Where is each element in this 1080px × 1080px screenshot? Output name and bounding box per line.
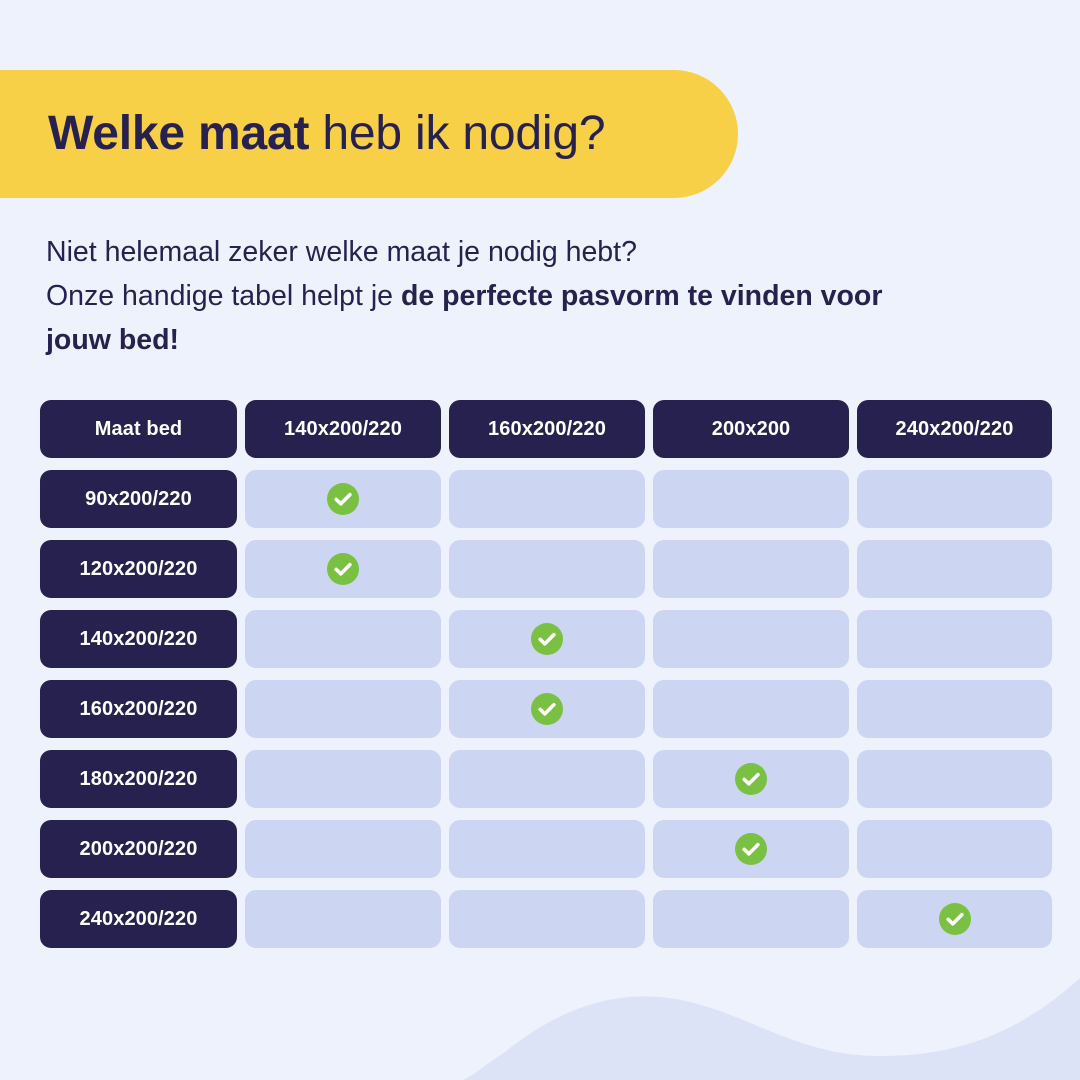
table-cell <box>245 610 441 668</box>
size-guide-page: Welke maat heb ik nodig? Niet helemaal z… <box>0 0 1080 1080</box>
intro-line-1: Niet helemaal zeker welke maat je nodig … <box>46 236 637 268</box>
intro-line-2-regular: Onze handige tabel helpt je <box>46 280 401 312</box>
table-row: 90x200/220 <box>40 470 1040 528</box>
table-cell <box>245 890 441 948</box>
wave-decoration <box>0 960 1080 1080</box>
table-row: 160x200/220 <box>40 680 1040 738</box>
title-banner: Welke maat heb ik nodig? <box>0 70 738 198</box>
table-row: 140x200/220 <box>40 610 1040 668</box>
row-label: 90x200/220 <box>40 470 237 528</box>
table-cell <box>245 820 441 878</box>
table-cell <box>449 890 645 948</box>
check-circle-icon <box>531 623 563 655</box>
table-row: 180x200/220 <box>40 750 1040 808</box>
row-label: 200x200/220 <box>40 820 237 878</box>
check-circle-icon <box>327 483 359 515</box>
table-cell <box>449 820 645 878</box>
table-row: 120x200/220 <box>40 540 1040 598</box>
table-header-cell: 140x200/220 <box>245 400 441 458</box>
table-row: 200x200/220 <box>40 820 1040 878</box>
table-cell <box>653 680 849 738</box>
table-cell <box>653 470 849 528</box>
row-label: 240x200/220 <box>40 890 237 948</box>
table-cell <box>653 750 849 808</box>
bed-size-table: Maat bed 140x200/220 160x200/220 200x200… <box>40 400 1040 948</box>
table-cell <box>653 890 849 948</box>
check-circle-icon <box>939 903 971 935</box>
table-cell <box>857 680 1052 738</box>
table-row: 240x200/220 <box>40 890 1040 948</box>
table-header-cell: 200x200 <box>653 400 849 458</box>
table-cell <box>857 470 1052 528</box>
check-circle-icon <box>327 553 359 585</box>
table-cell <box>245 750 441 808</box>
table-cell <box>653 610 849 668</box>
page-title-bold: Welke maat <box>48 107 309 160</box>
table-cell <box>449 470 645 528</box>
page-title-rest: heb ik nodig? <box>309 107 605 160</box>
table-cell <box>449 680 645 738</box>
table-header-cell: Maat bed <box>40 400 237 458</box>
table-cell <box>857 540 1052 598</box>
check-circle-icon <box>735 833 767 865</box>
check-circle-icon <box>531 693 563 725</box>
table-cell <box>857 610 1052 668</box>
table-cell <box>449 540 645 598</box>
page-title: Welke maat heb ik nodig? <box>48 109 605 159</box>
table-cell <box>857 890 1052 948</box>
row-label: 120x200/220 <box>40 540 237 598</box>
table-cell <box>449 610 645 668</box>
intro-paragraph: Niet helemaal zeker welke maat je nodig … <box>46 230 926 362</box>
row-label: 140x200/220 <box>40 610 237 668</box>
table-cell <box>245 680 441 738</box>
table-cell <box>857 820 1052 878</box>
table-cell <box>857 750 1052 808</box>
check-circle-icon <box>735 763 767 795</box>
table-header-cell: 160x200/220 <box>449 400 645 458</box>
row-label: 180x200/220 <box>40 750 237 808</box>
table-cell <box>653 540 849 598</box>
table-cell <box>245 470 441 528</box>
row-label: 160x200/220 <box>40 680 237 738</box>
table-cell <box>653 820 849 878</box>
table-cell <box>245 540 441 598</box>
table-header-row: Maat bed 140x200/220 160x200/220 200x200… <box>40 400 1040 458</box>
table-cell <box>449 750 645 808</box>
table-header-cell: 240x200/220 <box>857 400 1052 458</box>
